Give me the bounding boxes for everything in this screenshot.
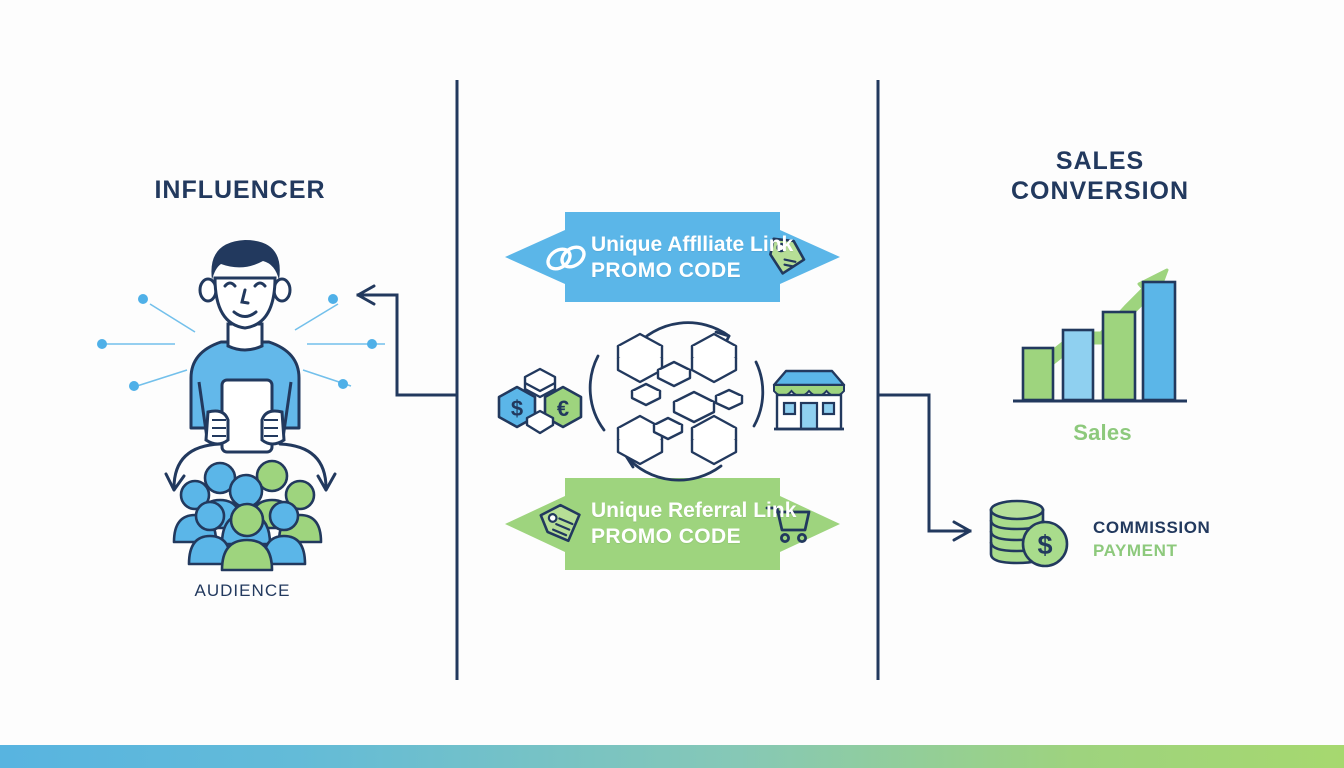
- bar-3: [1103, 312, 1135, 400]
- bar-2: [1063, 330, 1093, 400]
- coin-stack-dollar-icon: $: [985, 492, 1075, 572]
- price-tag-icon: [538, 500, 588, 550]
- bottom-gradient-bar: [0, 745, 1344, 768]
- block-br: [692, 416, 736, 464]
- svg-text:$: $: [1037, 530, 1052, 560]
- banner-affiliate-text: Unique Afflliate Link PROMO CODE: [591, 232, 821, 283]
- influencer-illustration: [95, 228, 395, 448]
- page-title-sales-conversion: SALES CONVERSION: [960, 147, 1240, 206]
- sales-title-line1: SALES: [1056, 147, 1144, 175]
- block-tl: [618, 334, 662, 382]
- chart-label-sales: Sales: [1020, 420, 1185, 446]
- banner-referral-text: Unique Referral Link PROMO CODE: [591, 498, 821, 549]
- bar-1: [1023, 348, 1053, 400]
- commission-payment-label: COMMISSION PAYMENT: [1093, 517, 1293, 562]
- banner-affiliate-line2: PROMO CODE: [591, 258, 821, 284]
- audience-crowd-illustration: [160, 450, 340, 575]
- hair: [211, 240, 279, 280]
- banner-affiliate-link: Unique Afflliate Link PROMO CODE: [505, 212, 840, 302]
- commission-line2: PAYMENT: [1093, 540, 1293, 563]
- block-c4: [716, 390, 742, 409]
- banner-referral-line1: Unique Referral Link: [591, 498, 821, 524]
- bar-4: [1143, 282, 1175, 400]
- commission-line1: COMMISSION: [1093, 517, 1293, 540]
- page-title-influencer: INFLUENCER: [90, 176, 390, 206]
- block-c3: [674, 392, 714, 422]
- block-tr: [692, 334, 736, 382]
- svg-text:$: $: [511, 396, 523, 421]
- audience-caption: AUDIENCE: [145, 581, 340, 601]
- storefront-icon: [770, 363, 848, 435]
- blockchain-cycle-icon: [596, 308, 766, 478]
- sales-title-line2: CONVERSION: [1011, 177, 1189, 205]
- banner-affiliate-line1: Unique Afflliate Link: [591, 232, 821, 258]
- chain-link-icon: [543, 237, 589, 279]
- infographic-canvas: INFLUENCER: [0, 0, 1344, 768]
- svg-text:€: €: [557, 396, 569, 421]
- block-c2: [632, 384, 660, 405]
- sales-bar-chart: [1005, 228, 1195, 413]
- banner-referral-line2: PROMO CODE: [591, 524, 821, 550]
- banner-referral-link: Unique Referral Link PROMO CODE: [505, 478, 840, 570]
- currency-hexagons-icon: $ €: [495, 363, 585, 438]
